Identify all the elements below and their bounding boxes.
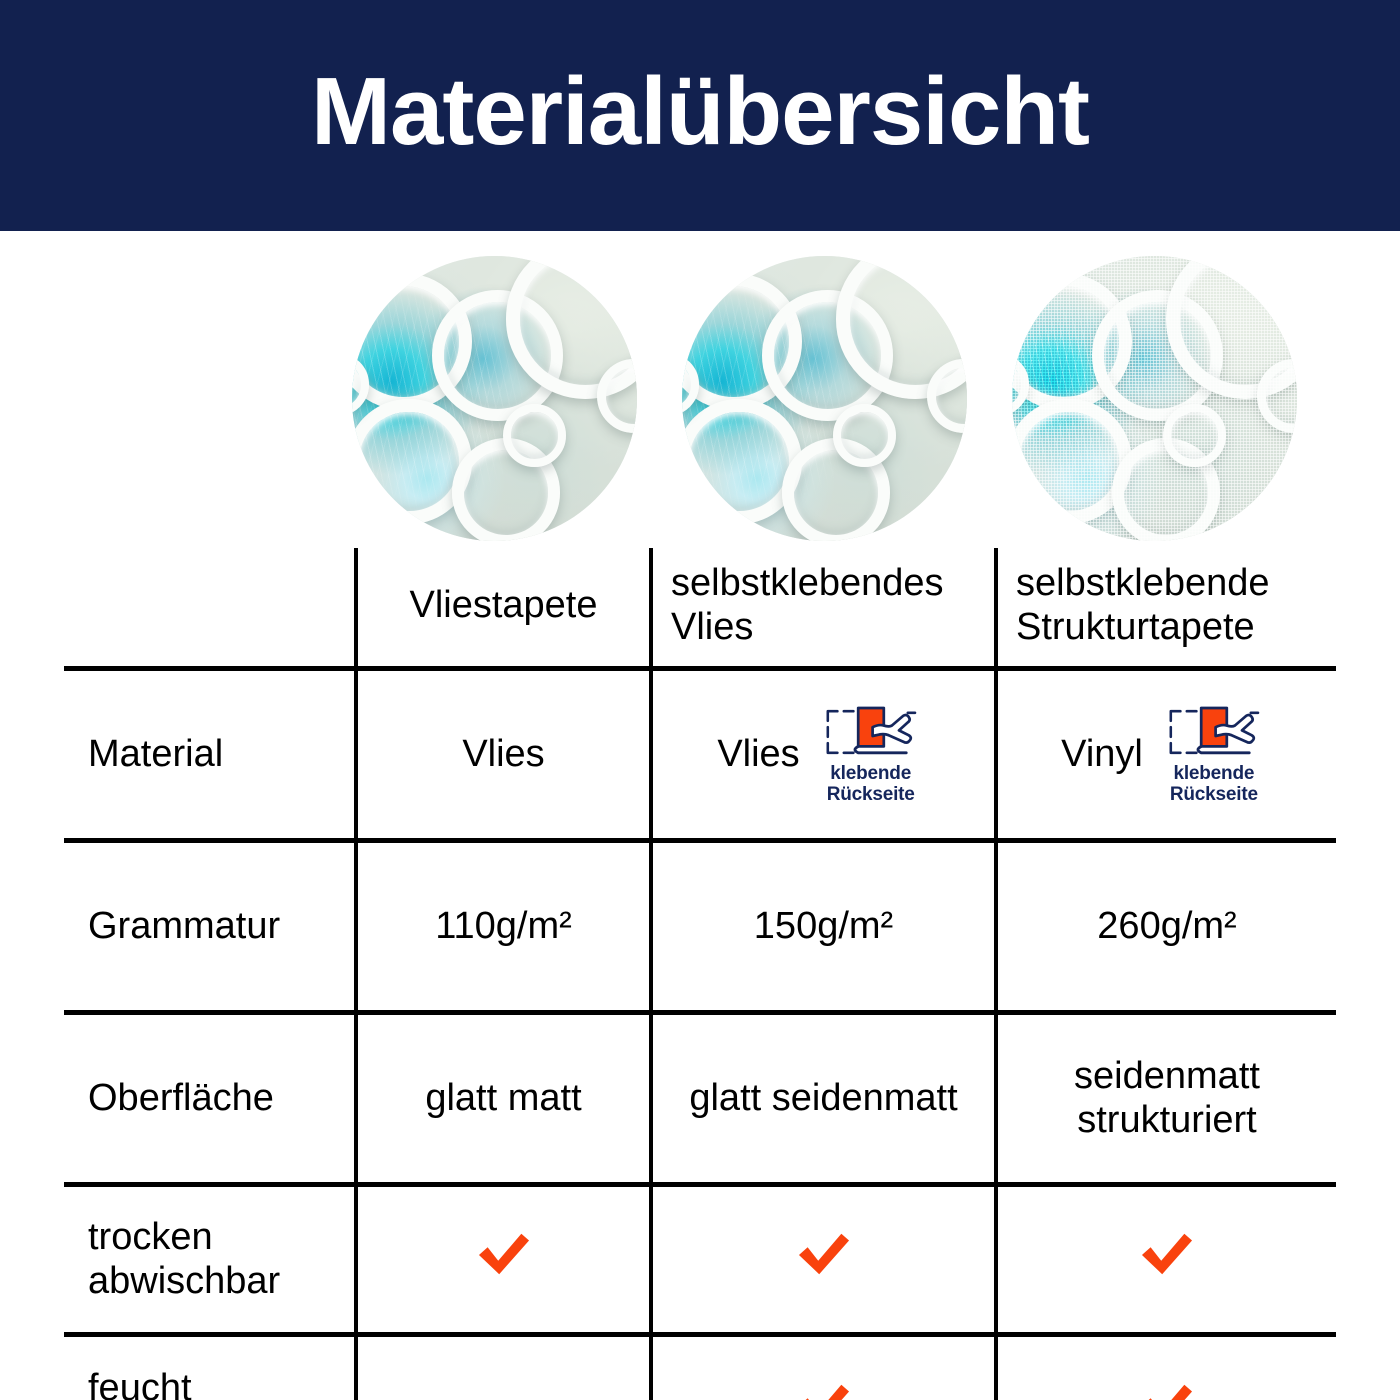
cell-oberflaeche-selbstklebende-strukturtapete: seidenmatt strukturiert <box>996 1012 1336 1184</box>
adhesive-backing-badge-label: klebende Rückseite <box>827 763 915 806</box>
cell-trocken-abwischbar-vliestapete <box>356 1184 651 1334</box>
cell-oberflaeche-vliestapete: glatt matt <box>356 1012 651 1184</box>
row-label-grammatur: Grammatur <box>64 840 356 1012</box>
badge-line-2: Rückseite <box>1170 784 1258 805</box>
cell-feucht-abwischbar-selbstklebendes-vlies <box>651 1334 996 1400</box>
material-overview-page: Materialübersicht <box>0 0 1400 1400</box>
cell-feucht-abwischbar-selbstklebende-strukturtapete <box>996 1334 1336 1400</box>
checkmark-icon <box>1136 1228 1198 1280</box>
column-header-vliestapete: Vliestapete <box>356 548 651 668</box>
adhesive-backing-badge: klebende Rückseite <box>1155 703 1273 806</box>
material-comparison-table: Vliestapete selbstklebendes Vlies selbst… <box>64 548 1336 1400</box>
cell-grammatur-selbstklebende-strukturtapete: 260g/m² <box>996 840 1336 1012</box>
checkmark-icon <box>793 1228 855 1280</box>
badge-line-1: klebende <box>830 763 911 784</box>
cell-grammatur-selbstklebendes-vlies: 150g/m² <box>651 840 996 1012</box>
column-header-selbstklebende-strukturtapete: selbstklebende Strukturtapete <box>996 548 1336 668</box>
row-label-feucht-abwischbar: feucht abwischbar <box>64 1334 356 1400</box>
checkmark-icon <box>1136 1379 1198 1400</box>
ring-icon <box>503 404 566 467</box>
cell-material-vliestapete: Vlies <box>356 668 651 840</box>
header-banner: Materialübersicht <box>0 0 1400 231</box>
adhesive-peel-backing-icon <box>823 703 919 761</box>
table-row: Grammatur 110g/m² 150g/m² 260g/m² <box>64 840 1336 1012</box>
cell-value: Vinyl <box>1061 732 1143 776</box>
row-label-oberflaeche: Oberfläche <box>64 1012 356 1184</box>
table-row: feucht abwischbar <box>64 1334 1336 1400</box>
ring-icon <box>833 404 896 467</box>
row-label-trocken-abwischbar: trocken abwischbar <box>64 1184 356 1334</box>
cell-trocken-abwischbar-selbstklebende-strukturtapete <box>996 1184 1336 1334</box>
adhesive-backing-badge: klebende Rückseite <box>812 703 930 806</box>
cell-value: Vlies <box>717 732 799 776</box>
woven-structure-texture <box>1012 256 1297 541</box>
cell-material-selbstklebendes-vlies: Vlies <box>651 668 996 840</box>
badge-line-2: Rückseite <box>827 784 915 805</box>
swatch-row <box>0 252 1400 548</box>
table-row: Material Vlies Vlies <box>64 668 1336 840</box>
badge-line-1: klebende <box>1173 763 1254 784</box>
cell-material-selbstklebende-strukturtapete: Vinyl klebende <box>996 668 1336 840</box>
checkmark-icon <box>793 1379 855 1400</box>
table-row: trocken abwischbar <box>64 1184 1336 1334</box>
adhesive-peel-backing-icon <box>1166 703 1262 761</box>
adhesive-backing-badge-label: klebende Rückseite <box>1170 763 1258 806</box>
page-title: Materialübersicht <box>311 64 1089 160</box>
row-label-material: Material <box>64 668 356 840</box>
swatch-selbstklebendes-vlies <box>682 256 967 541</box>
checkmark-icon <box>473 1228 535 1280</box>
table-header-row: Vliestapete selbstklebendes Vlies selbst… <box>64 548 1336 668</box>
cell-trocken-abwischbar-selbstklebendes-vlies <box>651 1184 996 1334</box>
cell-feucht-abwischbar-vliestapete <box>356 1334 651 1400</box>
table-row: Oberfläche glatt matt glatt seidenmatt s… <box>64 1012 1336 1184</box>
cell-oberflaeche-selbstklebendes-vlies: glatt seidenmatt <box>651 1012 996 1184</box>
table-corner-cell <box>64 548 356 668</box>
swatch-vliestapete <box>352 256 637 541</box>
swatch-selbstklebende-strukturtapete <box>1012 256 1297 541</box>
cell-grammatur-vliestapete: 110g/m² <box>356 840 651 1012</box>
column-header-selbstklebendes-vlies: selbstklebendes Vlies <box>651 548 996 668</box>
